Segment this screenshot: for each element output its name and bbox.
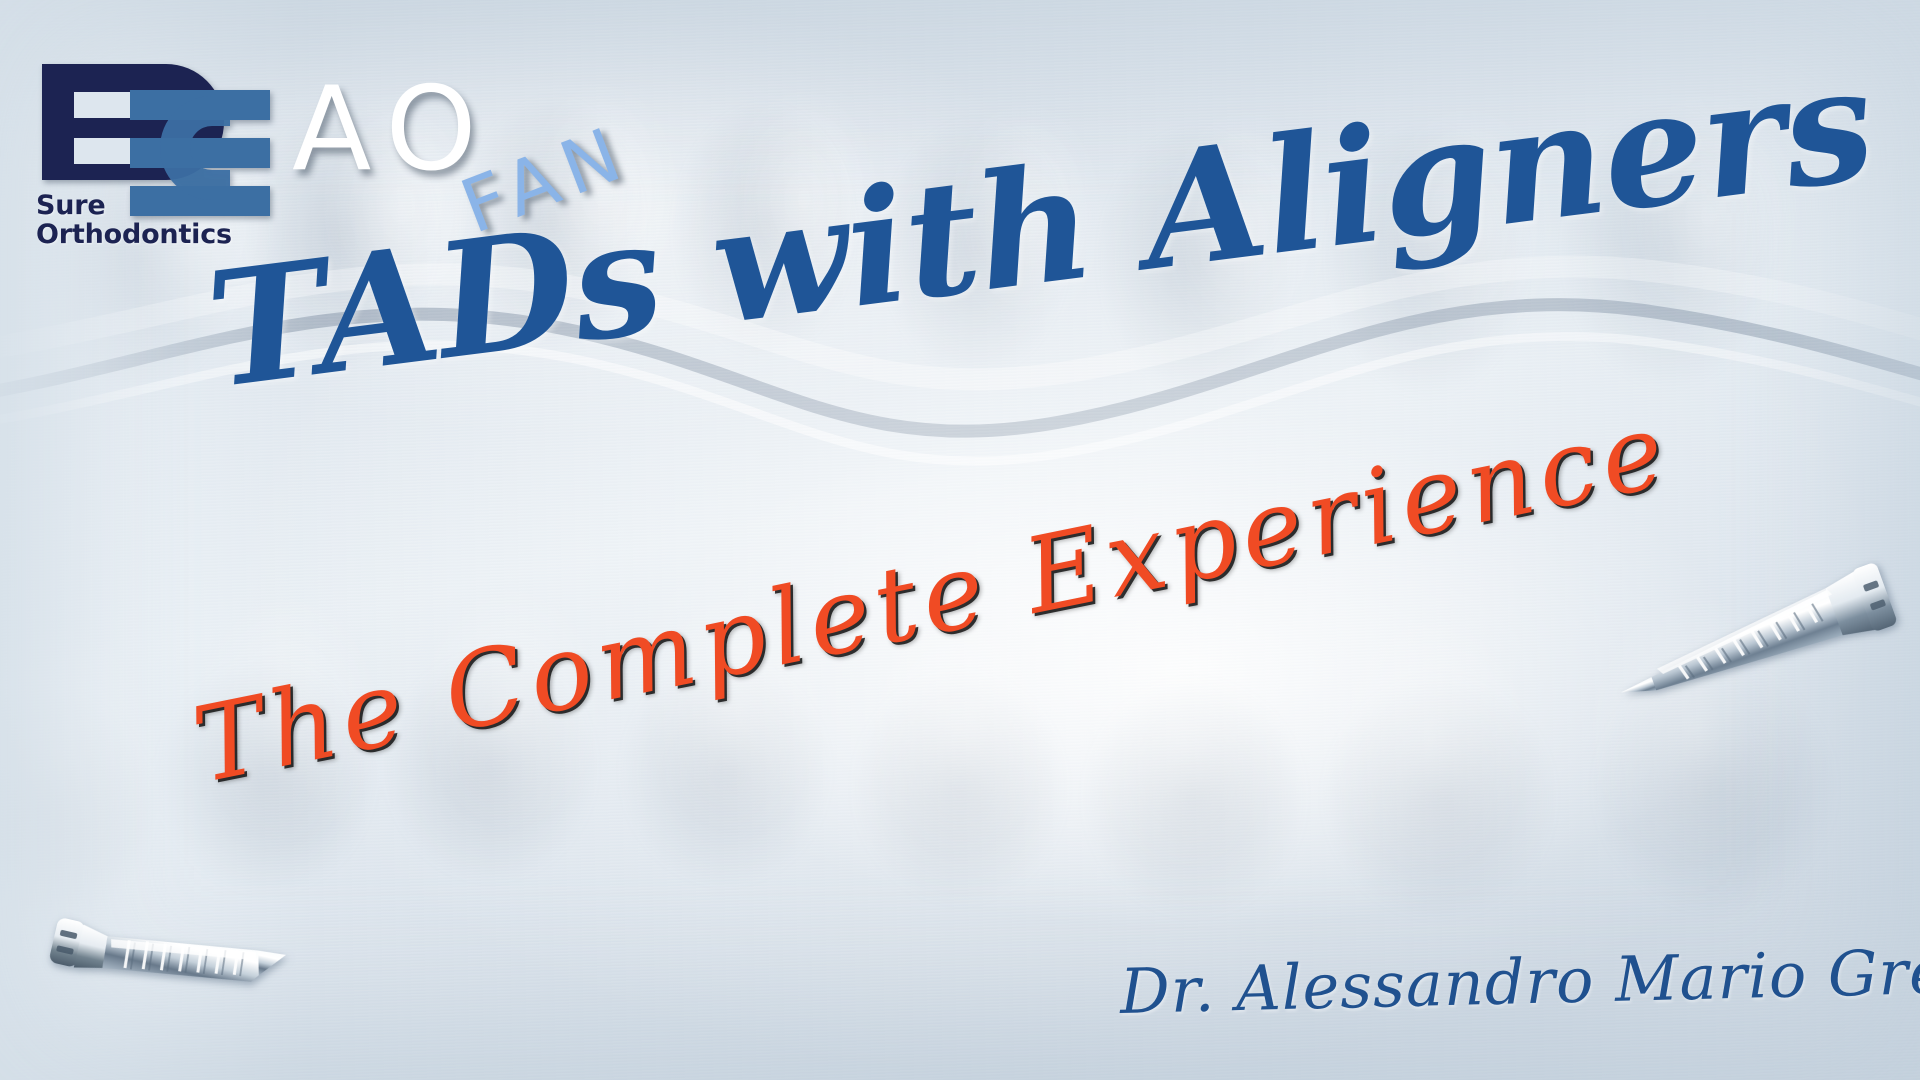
title-slide: Sure Orthodontics AO FAN TADs with Align… [0,0,1920,1080]
logo-name-line-1: Sure [36,192,266,221]
